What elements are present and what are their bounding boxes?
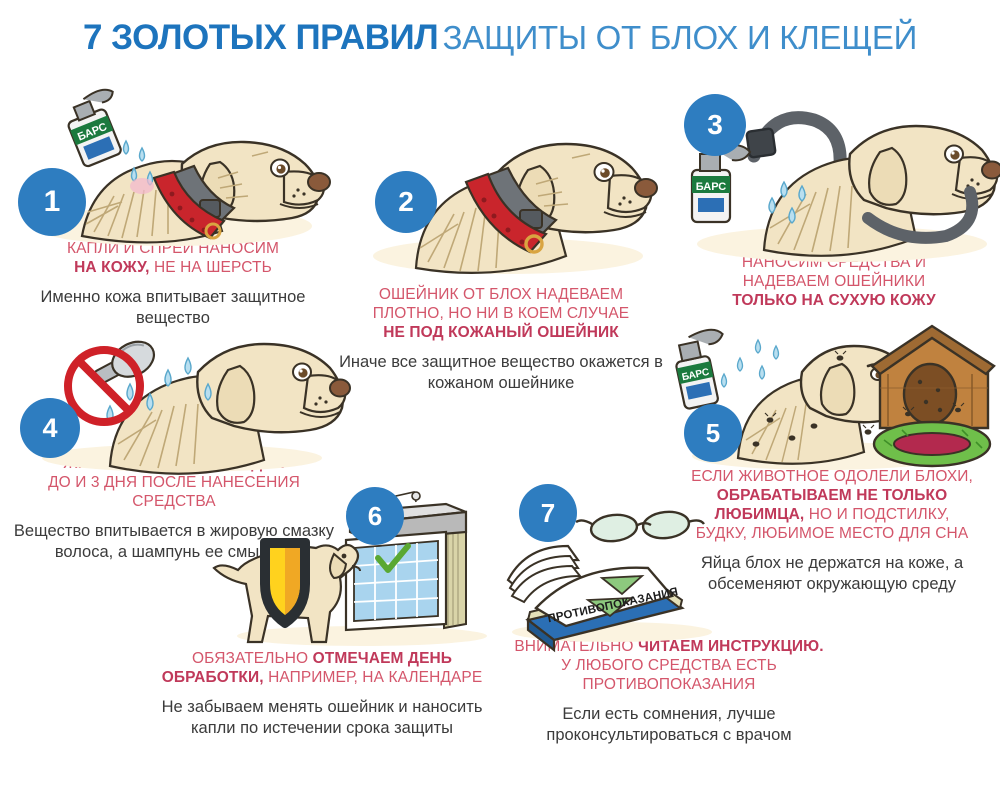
rule-5-number: 5 bbox=[706, 420, 720, 446]
rule-3-number: 3 bbox=[707, 111, 723, 139]
rule-7-text: ВНИМАТЕЛЬНО ЧИТАЕМ ИНСТРУКЦИЮ.У ЛЮБОГО С… bbox=[498, 638, 840, 747]
rule-6-number: 6 bbox=[368, 503, 382, 529]
rule-3-heading: НАНОСИМ СРЕДСТВА ИНАДЕВАЕМ ОШЕЙНИКИТОЛЬК… bbox=[668, 254, 1000, 311]
title-strong: 7 ЗОЛОТЫХ ПРАВИЛ bbox=[83, 18, 438, 57]
rule-1-number: 1 bbox=[44, 187, 61, 217]
rule-7-body: Если есть сомнения, лучше проконсультиро… bbox=[498, 704, 840, 747]
title-light: ЗАЩИТЫ ОТ БЛОХ И КЛЕЩЕЙ bbox=[443, 19, 917, 56]
rule-1-body: Именно кожа впитывает защитное вещество bbox=[8, 287, 338, 330]
rule-4-number: 4 bbox=[42, 415, 57, 442]
rule-2-badge: 2 bbox=[375, 171, 437, 233]
rule-6-heading: ОБЯЗАТЕЛЬНО ОТМЕЧАЕМ ДЕНЬОБРАБОТКИ, НАПР… bbox=[144, 650, 500, 688]
rule-7-badge: 7 bbox=[519, 484, 577, 542]
rule-5-badge: 5 bbox=[684, 404, 742, 462]
rule-3-badge: 3 bbox=[684, 94, 746, 156]
rule-4-badge: 4 bbox=[20, 398, 80, 458]
page-title: 7 ЗОЛОТЫХ ПРАВИЛ ЗАЩИТЫ ОТ БЛОХ И КЛЕЩЕЙ bbox=[0, 18, 1000, 58]
rule-3-text: НАНОСИМ СРЕДСТВА ИНАДЕВАЕМ ОШЕЙНИКИТОЛЬК… bbox=[668, 254, 1000, 311]
rule-7-number: 7 bbox=[541, 500, 555, 526]
rule-6-body: Не забываем менять ошейник и наносить ка… bbox=[144, 697, 500, 740]
rule-6-badge: 6 bbox=[346, 487, 404, 545]
rule-2-text: ОШЕЙНИК ОТ БЛОХ НАДЕВАЕМПЛОТНО, НО НИ В … bbox=[336, 286, 666, 395]
rule-2-body: Иначе все защитное вещество окажется в к… bbox=[336, 352, 666, 395]
rule-2-number: 2 bbox=[398, 188, 414, 216]
rule-1-text: КАПЛИ И СПРЕЙ НАНОСИМНА КОЖУ, НЕ НА ШЕРС… bbox=[8, 240, 338, 330]
rule-1-badge: 1 bbox=[18, 168, 86, 236]
glasses-icon bbox=[576, 510, 704, 544]
rule-2-heading: ОШЕЙНИК ОТ БЛОХ НАДЕВАЕМПЛОТНО, НО НИ В … bbox=[336, 286, 666, 343]
rule-6-text: ОБЯЗАТЕЛЬНО ОТМЕЧАЕМ ДЕНЬОБРАБОТКИ, НАПР… bbox=[144, 650, 500, 740]
svg-text:БАРС: БАРС bbox=[696, 181, 726, 193]
